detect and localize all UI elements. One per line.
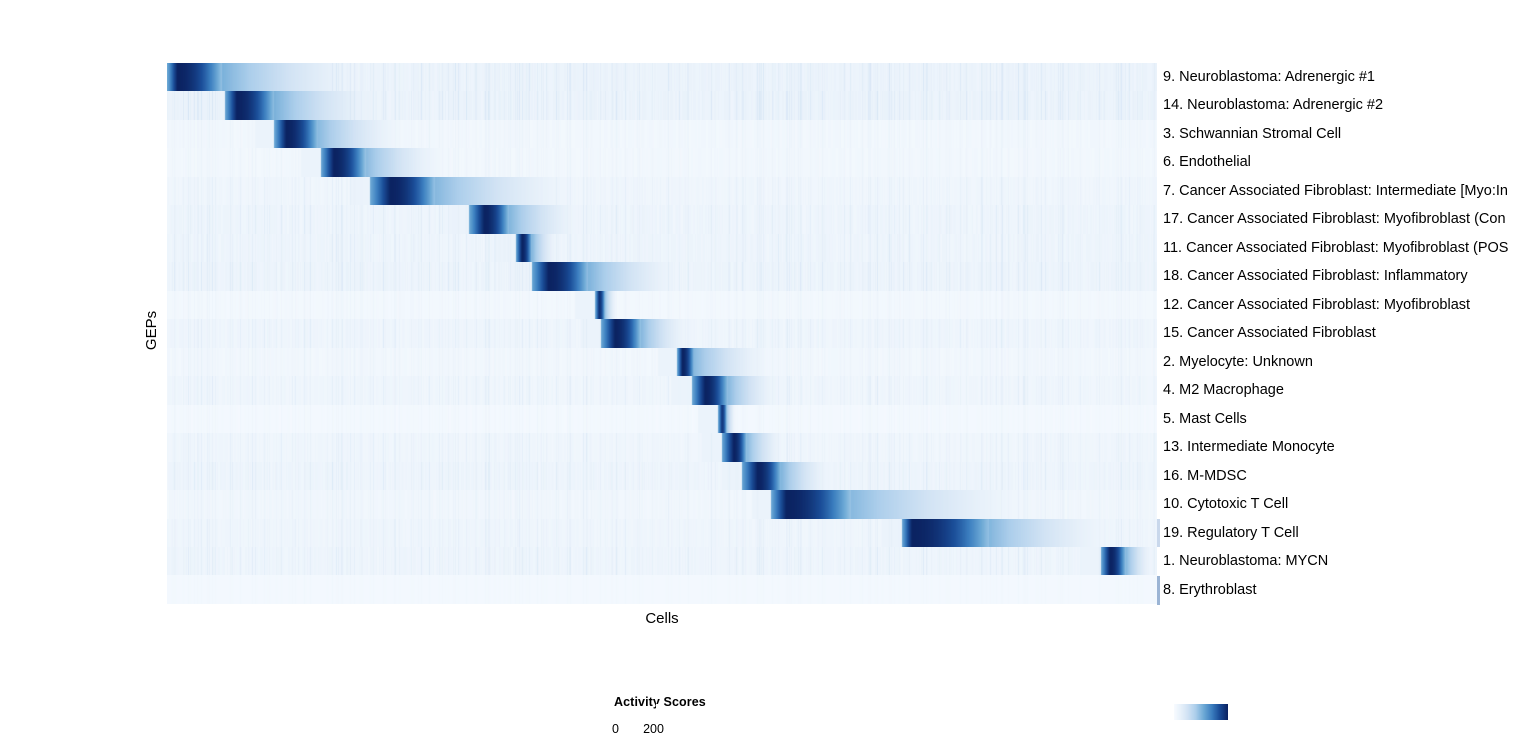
heatmap-row: [167, 490, 1157, 518]
heatmap-row: [167, 234, 1157, 262]
colorbar-gradient: [1174, 704, 1228, 720]
colorbar-legend: Activity Scores: [560, 686, 820, 741]
heatmap-row-canvas: [167, 462, 1157, 490]
heatmap-row: [167, 205, 1157, 233]
heatmap-row-label: 2. Myelocyte: Unknown: [1163, 348, 1313, 377]
heatmap-row: [167, 319, 1157, 347]
heatmap-row: [167, 177, 1157, 205]
colorbar-tick-mark: [656, 704, 658, 709]
heatmap-row-label: 13. Intermediate Monocyte: [1163, 433, 1335, 462]
heatmap-row-label: 7. Cancer Associated Fibroblast: Interme…: [1163, 177, 1508, 206]
colorbar-tick-mark: [614, 704, 616, 709]
heatmap-row-canvas: [167, 376, 1157, 404]
heatmap-row: [167, 63, 1157, 91]
y-axis-title-text: GEPs: [144, 310, 161, 349]
heatmap-row: [167, 148, 1157, 176]
heatmap-row: [167, 291, 1157, 319]
heatmap-row-canvas: [167, 177, 1157, 205]
heatmap-row: [167, 262, 1157, 290]
heatmap-row-canvas: [167, 519, 1157, 547]
heatmap-row: [167, 405, 1157, 433]
heatmap-plot-area: [167, 63, 1157, 604]
heatmap-row-label: 3. Schwannian Stromal Cell: [1163, 120, 1341, 149]
heatmap-row-canvas: [167, 547, 1157, 575]
heatmap-row-canvas: [167, 91, 1157, 119]
heatmap-row-canvas: [167, 291, 1157, 319]
heatmap-row-label: 5. Mast Cells: [1163, 405, 1247, 434]
heatmap-row-label: 1. Neuroblastoma: MYCN: [1163, 547, 1328, 576]
heatmap-row-canvas: [167, 405, 1157, 433]
heatmap-row-label: 11. Cancer Associated Fibroblast: Myofib…: [1163, 234, 1508, 263]
heatmap-row: [167, 376, 1157, 404]
heatmap-row-label: 18. Cancer Associated Fibroblast: Inflam…: [1163, 262, 1468, 291]
heatmap-row-canvas: [167, 205, 1157, 233]
heatmap-row-canvas: [167, 348, 1157, 376]
heatmap-row-label: 12. Cancer Associated Fibroblast: Myofib…: [1163, 291, 1470, 320]
heatmap-row-canvas: [167, 319, 1157, 347]
heatmap-row-label: 8. Erythroblast: [1163, 576, 1257, 604]
heatmap-row-canvas: [167, 575, 1157, 603]
heatmap-row-canvas: [167, 490, 1157, 518]
heatmap-row-canvas: [167, 234, 1157, 262]
colorbar-tick-label: 200: [643, 722, 664, 736]
heatmap-figure: GEPs Cells 9. Neuroblastoma: Adrenergic …: [0, 0, 1540, 743]
heatmap-row: [167, 348, 1157, 376]
heatmap-row-label: 14. Neuroblastoma: Adrenergic #2: [1163, 91, 1383, 120]
heatmap-row: [167, 575, 1157, 603]
x-axis-title: Cells: [167, 610, 1157, 627]
colorbar-tick-label: 0: [612, 722, 619, 736]
heatmap-row: [167, 120, 1157, 148]
heatmap-row-label: 16. M-MDSC: [1163, 462, 1247, 491]
heatmap-row-label: 10. Cytotoxic T Cell: [1163, 490, 1288, 519]
heatmap-row: [167, 462, 1157, 490]
heatmap-row-label: 6. Endothelial: [1163, 148, 1251, 177]
heatmap-row-label: 19. Regulatory T Cell: [1163, 519, 1299, 548]
heatmap-row: [167, 433, 1157, 461]
legend-title: Activity Scores: [614, 695, 706, 709]
plot-spine-upper: [1157, 519, 1160, 547]
heatmap-row-label: 9. Neuroblastoma: Adrenergic #1: [1163, 63, 1375, 92]
heatmap-row-label: 15. Cancer Associated Fibroblast: [1163, 319, 1376, 348]
heatmap-row-labels: 9. Neuroblastoma: Adrenergic #114. Neuro…: [1163, 63, 1540, 604]
y-axis-title: GEPs: [132, 280, 172, 380]
heatmap-row-canvas: [167, 433, 1157, 461]
heatmap-row-label: 4. M2 Macrophage: [1163, 376, 1284, 405]
heatmap-row-canvas: [167, 63, 1157, 91]
heatmap-row: [167, 91, 1157, 119]
colorbar-canvas: [1174, 704, 1228, 720]
heatmap-row: [167, 519, 1157, 547]
heatmap-row: [167, 547, 1157, 575]
heatmap-row-canvas: [167, 120, 1157, 148]
plot-spine-lower: [1157, 576, 1160, 605]
heatmap-row-canvas: [167, 262, 1157, 290]
heatmap-row-canvas: [167, 148, 1157, 176]
heatmap-row-label: 17. Cancer Associated Fibroblast: Myofib…: [1163, 205, 1506, 234]
